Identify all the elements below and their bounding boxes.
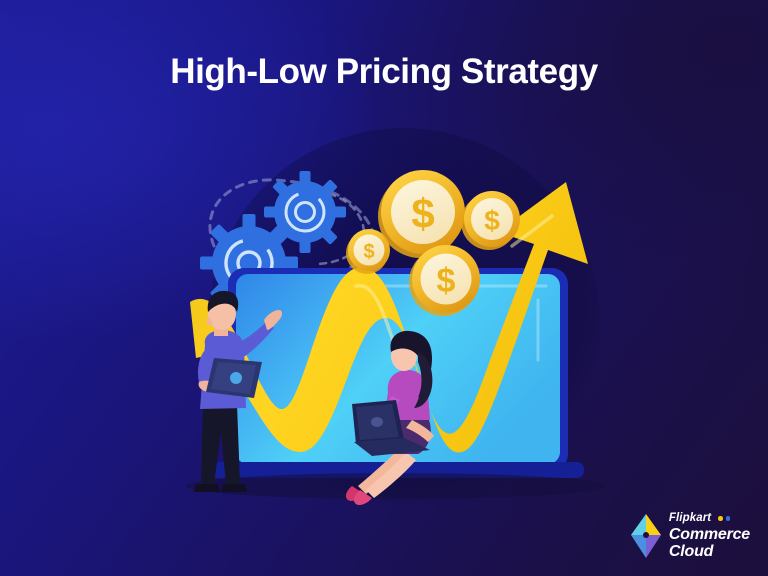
- logo-brand-row: Flipkart: [669, 513, 750, 525]
- logo-wordmark: Flipkart Commerce Cloud: [669, 513, 750, 561]
- flipkart-diamond-icon: [630, 513, 662, 559]
- logo-dots: [718, 516, 730, 521]
- logo-dot-blue: [726, 516, 731, 521]
- svg-text:$: $: [363, 241, 374, 263]
- logo-line-commerce: Commerce: [669, 527, 750, 543]
- poster-canvas: High-Low Pricing Strategy: [0, 0, 768, 576]
- logo-brand: Flipkart: [669, 513, 711, 525]
- svg-text:$: $: [437, 262, 456, 300]
- logo-line-cloud: Cloud: [669, 544, 750, 560]
- svg-text:$: $: [484, 205, 500, 236]
- svg-text:$: $: [411, 190, 434, 237]
- coin-large-top: $: [378, 170, 465, 258]
- coin-medium-right: $: [461, 191, 520, 250]
- logo-dot-yellow: [718, 516, 723, 521]
- flipkart-commerce-cloud-logo: Flipkart Commerce Cloud: [630, 513, 750, 561]
- growth-chart-illustration: $ $ $ $: [0, 0, 768, 576]
